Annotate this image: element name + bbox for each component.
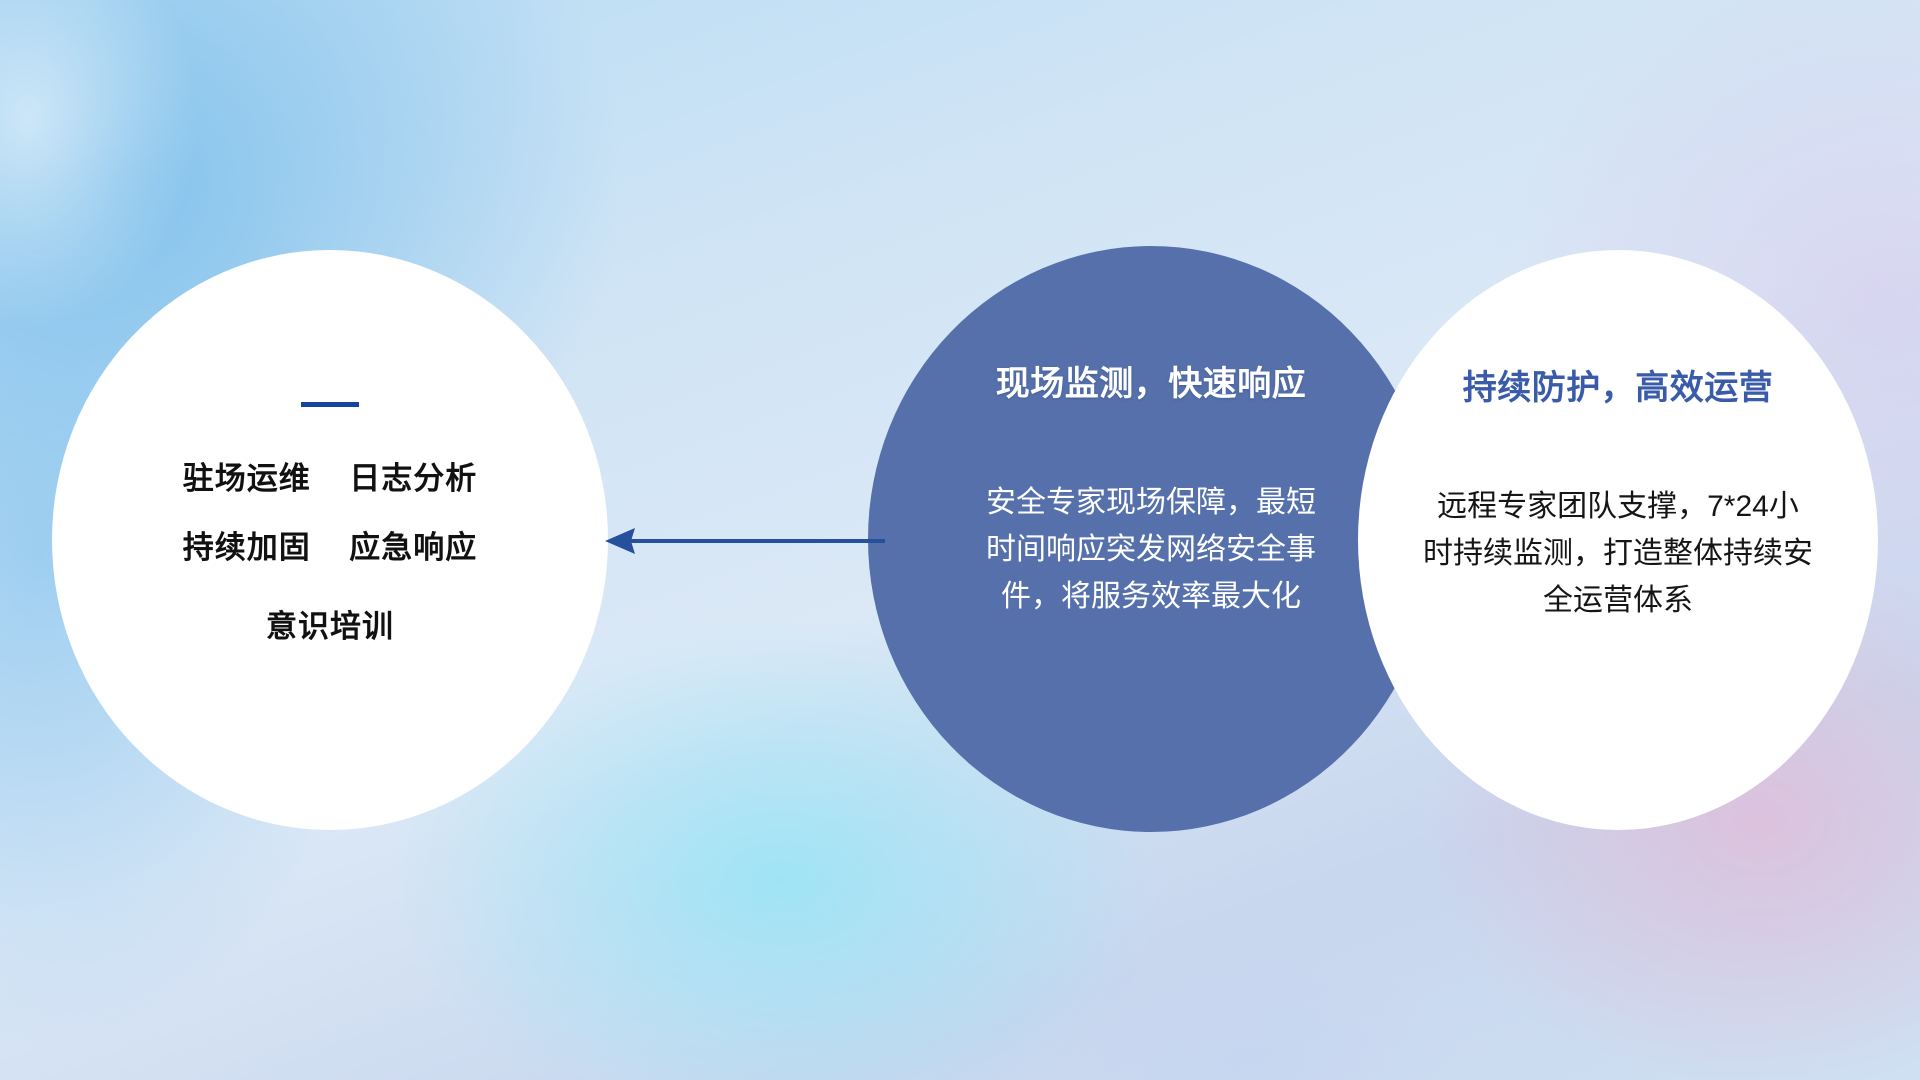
left-pointing-flow-arrow-icon bbox=[595, 510, 885, 572]
middle-circle-title: 现场监测，快速响应 bbox=[996, 356, 1307, 405]
right-circle-body: 远程专家团队支撑，7*24小时持续监测，打造整体持续安全运营体系 bbox=[1423, 483, 1813, 624]
capability-line-1: 驻场运维 日志分析 bbox=[183, 453, 477, 498]
middle-circle-body: 安全专家现场保障，最短时间响应突发网络安全事件，将服务效率最大化 bbox=[981, 479, 1321, 620]
capability-line-2: 持续加固 应急响应 bbox=[183, 522, 477, 567]
right-operations-circle: 持续防护，高效运营 远程专家团队支撑，7*24小时持续监测，打造整体持续安全运营… bbox=[1358, 250, 1878, 830]
left-capability-circle: 驻场运维 日志分析 持续加固 应急响应 意识培训 bbox=[52, 250, 608, 830]
accent-dash-divider bbox=[301, 402, 359, 407]
capability-line-3: 意识培训 bbox=[266, 601, 394, 646]
middle-onsite-circle: 现场监测，快速响应 安全专家现场保障，最短时间响应突发网络安全事件，将服务效率最… bbox=[868, 246, 1434, 832]
right-circle-title: 持续防护，高效运营 bbox=[1463, 360, 1774, 409]
